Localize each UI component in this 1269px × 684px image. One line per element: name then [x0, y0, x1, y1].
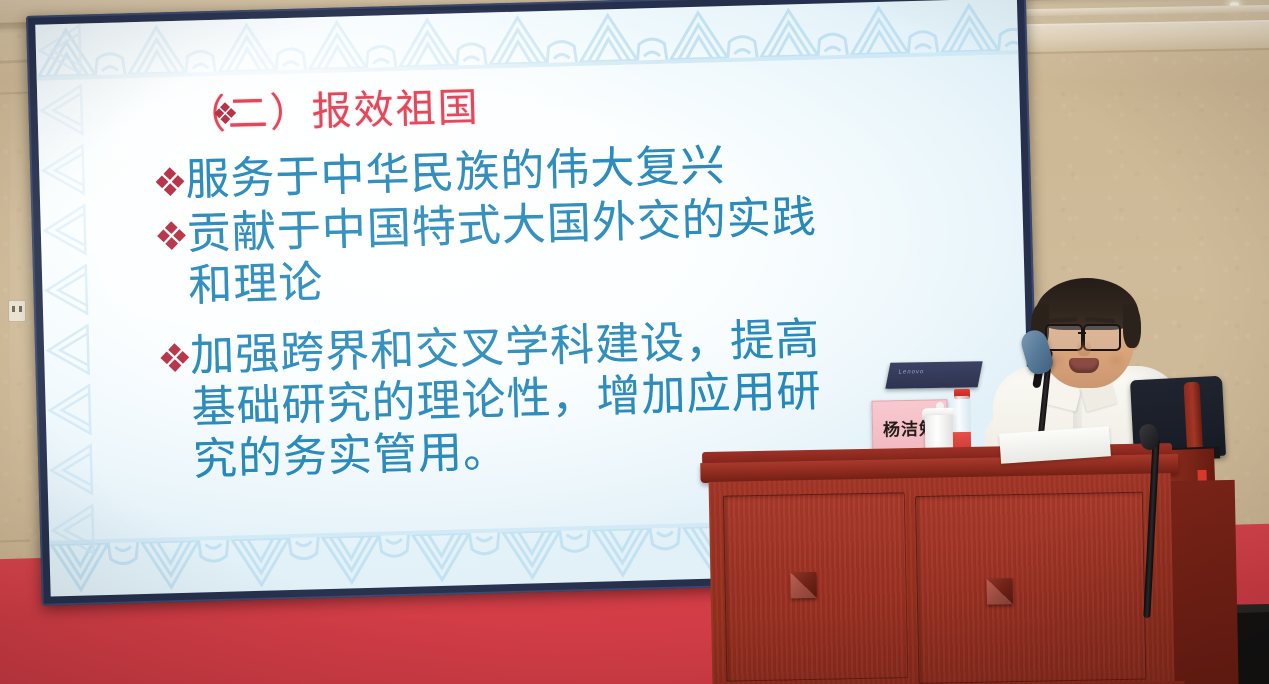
diamond-bullet-icon	[215, 103, 236, 124]
laptop: Lenovo	[885, 361, 982, 389]
diamond-bullet-icon	[157, 169, 184, 196]
diamond-ornament-icon	[986, 578, 1012, 604]
laptop-logo-icon: Lenovo	[898, 369, 925, 375]
slide-title: （二）报效祖国	[185, 63, 910, 141]
teacup	[925, 415, 956, 452]
speaker-mouth	[1069, 358, 1099, 373]
diamond-bullet-icon	[162, 344, 189, 371]
glasses-bridge-icon	[1078, 332, 1086, 334]
conference-photo-scene: （二）报效祖国 服务于中华民族的伟大复兴 贡献于中国特式大国外交的	[0, 0, 1269, 684]
podium-panel-left	[723, 492, 909, 681]
slide-content: （二）报效祖国 服务于中华民族的伟大复兴 贡献于中国特式大国外交的	[155, 63, 920, 489]
speaker-nose	[1077, 340, 1091, 356]
diamond-bullet-icon	[159, 223, 186, 250]
face-shading	[1105, 350, 1127, 370]
wall-outlet	[8, 300, 26, 322]
diamond-ornament-icon	[790, 572, 816, 598]
slide-bullet-2: 贡献于中国特式大国外交的实践 和理论	[158, 189, 915, 313]
podium-front	[709, 473, 1175, 684]
podium-panel-right	[915, 492, 1147, 684]
speaker-hair-side	[1123, 304, 1141, 348]
slide-border-left-icon	[35, 24, 96, 597]
podium-side	[1169, 480, 1239, 684]
